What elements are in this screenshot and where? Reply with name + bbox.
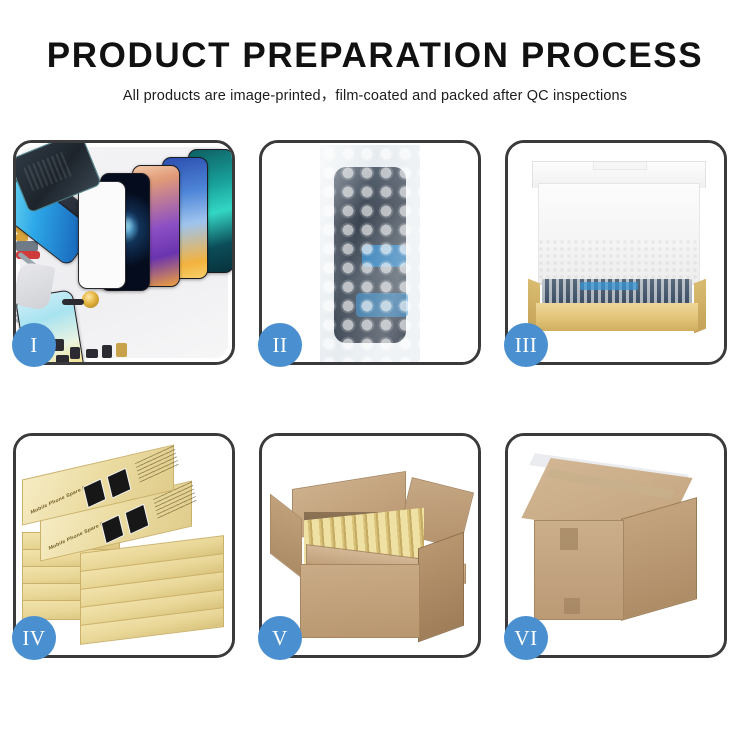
flex-connector-icon [16,241,38,251]
process-steps-grid: I II III [13,140,739,676]
box-speclines-1 [135,445,179,483]
small-part-4-icon [116,343,127,357]
step-panel-5: V [259,433,481,658]
small-part-2-icon [86,349,98,358]
bubble-wrap-sleeve-icon [320,145,420,362]
step-badge-4: IV [12,616,56,660]
step-badge-2: II [258,323,302,367]
box-thumb-1b [107,468,132,499]
box-thumb-1a [83,478,107,508]
step-panel-4: Mobile Phone Spare Parts Mobile Phone Sp… [13,433,235,658]
small-part-3-icon [102,345,112,358]
carton-tab-1 [560,528,578,550]
step-badge-5: V [258,616,302,660]
step-panel-2: II [259,140,481,365]
packed-screens-icon [542,279,692,305]
carton-side-icon [418,532,464,643]
box-thumb-2a [101,514,125,544]
coil-part-icon [82,291,99,308]
step-panel-6: VI [505,433,727,658]
small-part-6-icon [56,355,69,362]
step-panel-1: I [13,140,235,365]
box-front-icon [536,303,698,331]
carton-front-icon [300,564,420,638]
carton-tab-2 [564,598,580,614]
step-badge-3: III [504,323,548,367]
page-subtitle: All products are image-printed，film-coat… [0,75,750,105]
box-thumb-2b [125,504,150,535]
page-title: PRODUCT PREPARATION PROCESS [0,0,750,75]
step-badge-6: VI [504,616,548,660]
phone-white-frame-icon [78,181,126,289]
sealed-carton-right-icon [621,497,697,621]
small-part-1-icon [70,347,80,359]
bar-part-icon [62,299,84,305]
step-panel-3: III [505,140,727,365]
page-header: PRODUCT PREPARATION PROCESS All products… [0,0,750,105]
step-badge-1: I [12,323,56,367]
plastic-gloss [320,145,420,362]
